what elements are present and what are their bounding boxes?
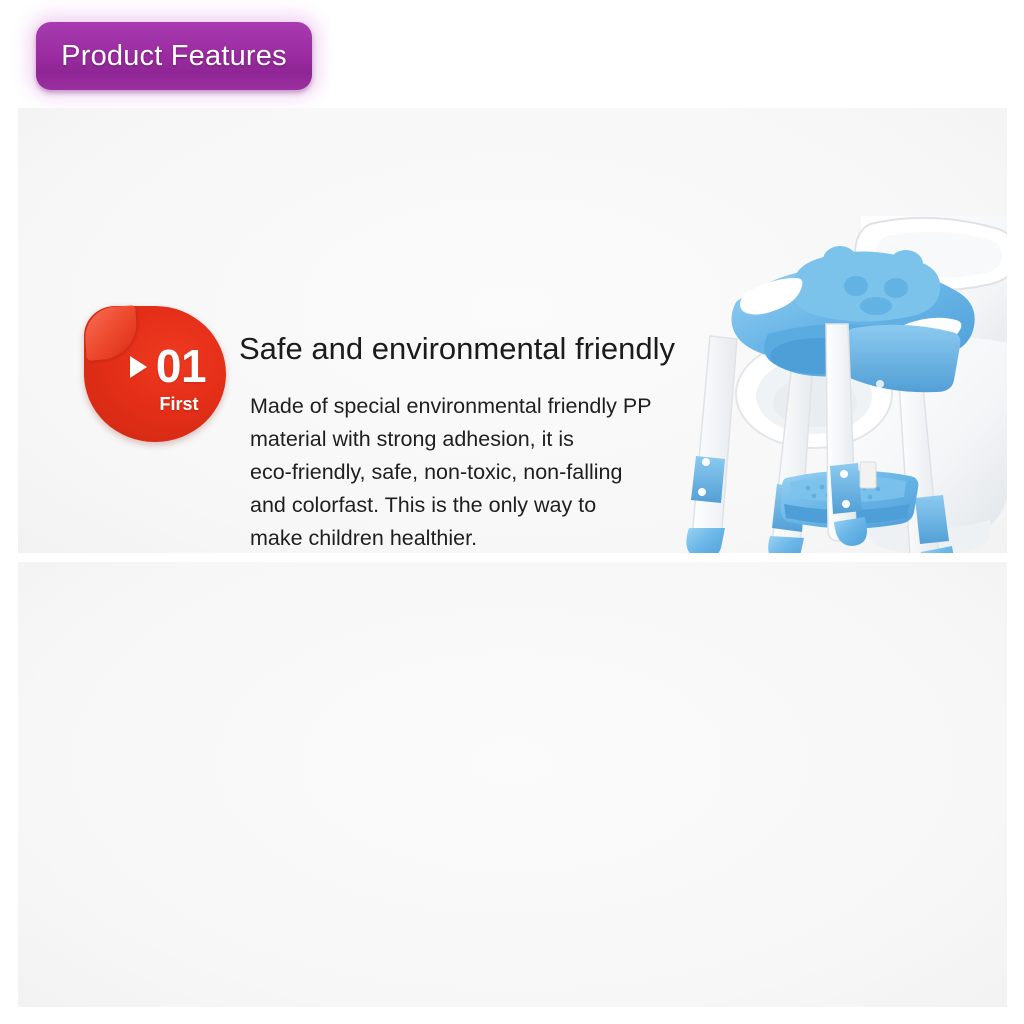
body-line: eco-friendly, safe, non-toxic, non-falli…	[250, 456, 670, 489]
body-line: make children healthier.	[250, 522, 670, 553]
body-line: Made of special environmental friendly P…	[250, 390, 670, 423]
feature-body-01: Made of special environmental friendly P…	[250, 390, 670, 553]
banner-label: Product Features	[61, 42, 287, 71]
feature-badge-01: 01 First	[84, 306, 226, 442]
product-features-banner: Product Features	[36, 22, 312, 90]
badge-number-row: 01	[130, 343, 206, 389]
feature-heading-01: Safe and environmental friendly	[239, 332, 675, 366]
product-image-toilet-with-seat	[618, 216, 1007, 553]
feature-panel-02: 02 First Durable	[18, 562, 1007, 1007]
badge-sub-label: First	[159, 395, 198, 413]
badge-number: 01	[156, 343, 206, 389]
play-triangle-icon	[130, 356, 147, 378]
feature-panel-01: 01 First Safe and environmental friendly…	[18, 108, 1007, 553]
body-line: material with strong adhesion, it is	[250, 423, 670, 456]
badge-content: 01 First	[84, 306, 226, 442]
body-line: and colorfast. This is the only way to	[250, 489, 670, 522]
